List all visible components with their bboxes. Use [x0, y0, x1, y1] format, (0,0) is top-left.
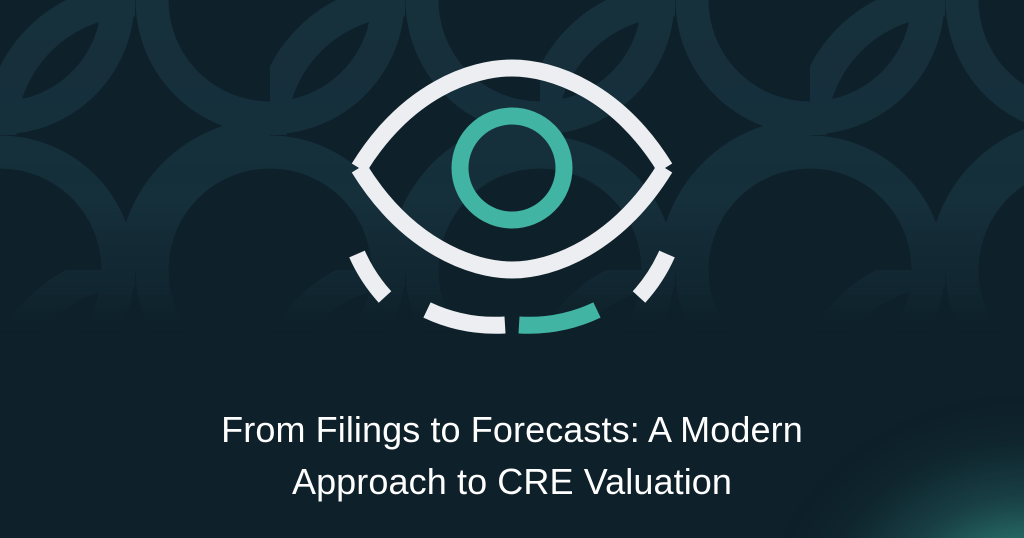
page-title: From Filings to Forecasts: A Modern Appr…	[0, 404, 1024, 508]
scan-dash-inner-right	[519, 310, 597, 325]
eye-logo	[347, 52, 677, 342]
page-title-line-1: From Filings to Forecasts: A Modern	[150, 404, 874, 456]
scan-dash-inner-left	[427, 310, 505, 325]
scan-dash-outer-left	[357, 254, 385, 297]
blog-hero-card: From Filings to Forecasts: A Modern Appr…	[0, 0, 1024, 538]
iris-ring	[460, 116, 564, 220]
page-title-line-2: Approach to CRE Valuation	[150, 456, 874, 508]
scan-dash-outer-right	[639, 254, 667, 297]
